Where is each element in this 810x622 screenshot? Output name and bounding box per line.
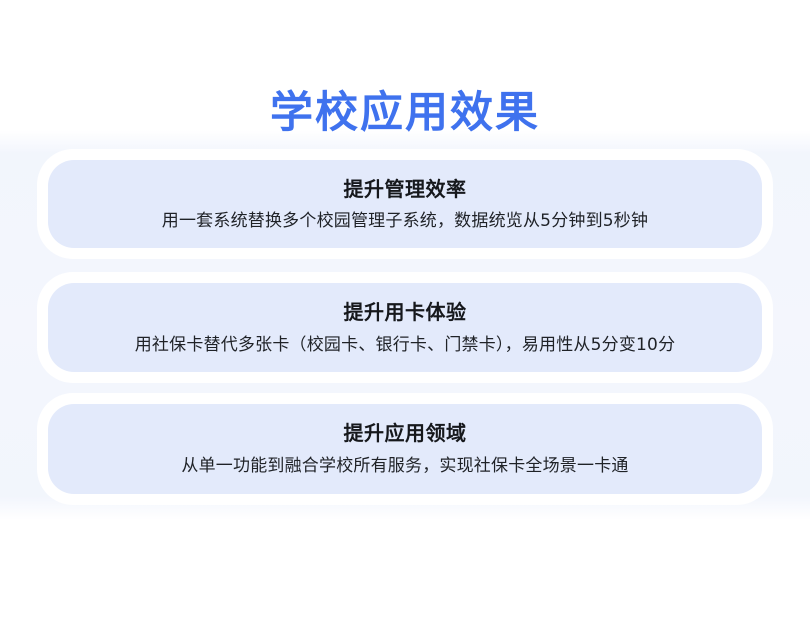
benefit-card-ring-2: 提升用卡体验 用社保卡替代多张卡（校园卡、银行卡、门禁卡），易用性从5分变10分 <box>37 272 773 383</box>
benefit-card-1: 提升管理效率 用一套系统替换多个校园管理子系统，数据统览从5分钟到5秒钟 <box>48 160 762 248</box>
benefit-card-2: 提升用卡体验 用社保卡替代多张卡（校园卡、银行卡、门禁卡），易用性从5分变10分 <box>48 283 762 372</box>
benefit-card-ring-1: 提升管理效率 用一套系统替换多个校园管理子系统，数据统览从5分钟到5秒钟 <box>37 149 773 259</box>
benefit-card-title: 提升应用领域 <box>344 420 467 446</box>
benefit-card-3: 提升应用领域 从单一功能到融合学校所有服务，实现社保卡全场景一卡通 <box>48 404 762 494</box>
slide-root: 学校应用效果 提升管理效率 用一套系统替换多个校园管理子系统，数据统览从5分钟到… <box>0 0 810 622</box>
benefit-card-title: 提升用卡体验 <box>344 299 467 325</box>
benefit-card-body: 用社保卡替代多张卡（校园卡、银行卡、门禁卡），易用性从5分变10分 <box>135 333 676 357</box>
benefit-card-body: 从单一功能到融合学校所有服务，实现社保卡全场景一卡通 <box>181 454 628 478</box>
page-title: 学校应用效果 <box>0 87 810 139</box>
benefit-card-ring-3: 提升应用领域 从单一功能到融合学校所有服务，实现社保卡全场景一卡通 <box>37 393 773 505</box>
benefit-card-title: 提升管理效率 <box>344 176 467 202</box>
benefit-card-body: 用一套系统替换多个校园管理子系统，数据统览从5分钟到5秒钟 <box>162 209 648 233</box>
